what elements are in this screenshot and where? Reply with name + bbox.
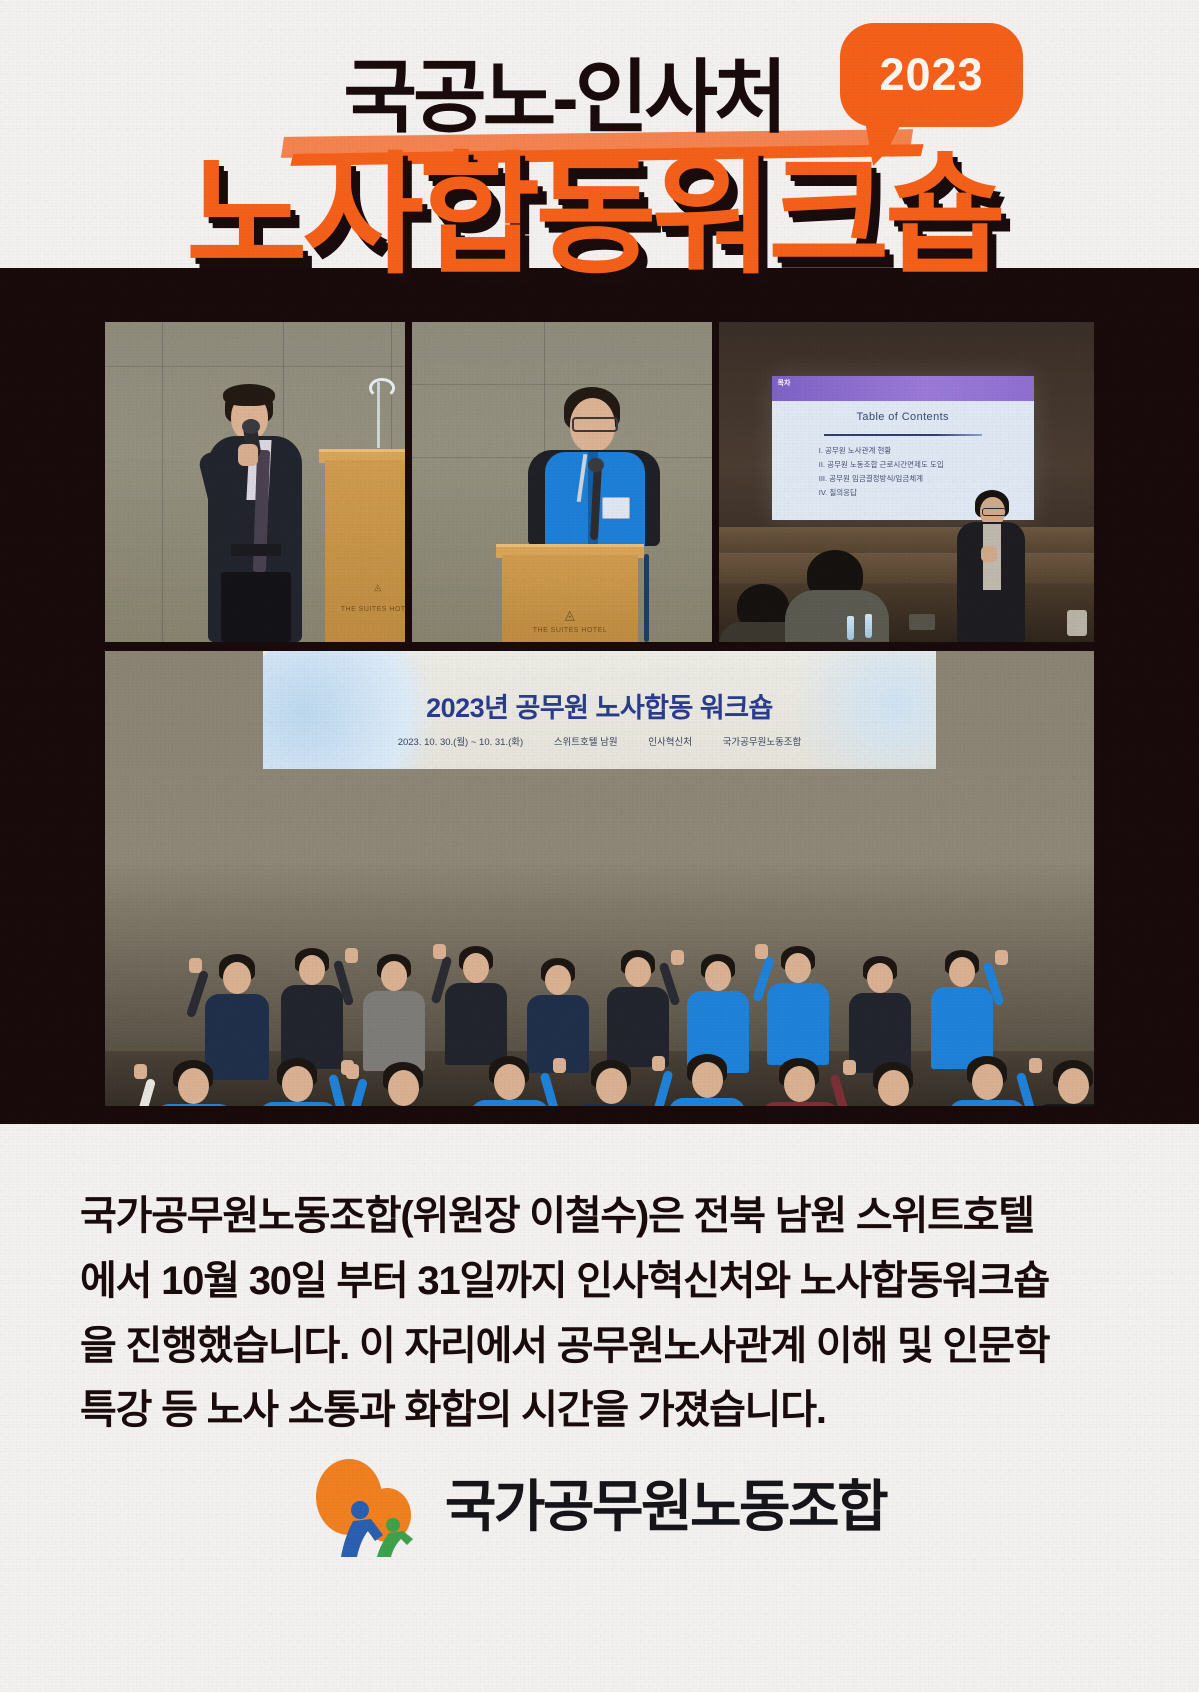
poster-root: 국공노-인사처 2023 노사합동워크숍 ◬ THE SUITES HOTEL — [0, 0, 1199, 1692]
speaker-belt — [231, 544, 281, 556]
audience-body — [785, 590, 889, 642]
mic-cable — [644, 554, 649, 642]
body-line: 을 진행했습니다. 이 자리에서 공무원노사관계 이해 및 인문학 — [80, 1314, 1120, 1379]
person-fist — [345, 948, 358, 963]
person-torso — [205, 994, 269, 1080]
person-head — [692, 1062, 723, 1098]
person-head — [545, 965, 571, 995]
slide-tab-label: 목차 — [778, 378, 791, 388]
photo-speaker-suit: ◬ THE SUITES HOTEL — [105, 322, 405, 642]
slide-toc-item: II. 공무원 노동조합 근로시간면제도 도입 — [819, 458, 1019, 472]
mic-clip-icon — [369, 378, 395, 398]
person-fist — [995, 950, 1008, 965]
person-head — [388, 1070, 419, 1106]
microphone-head-icon — [588, 458, 604, 472]
person-torso — [607, 987, 669, 1067]
person-vest — [1035, 1104, 1094, 1106]
stage-step — [719, 553, 1094, 584]
presenter-glasses-icon — [982, 508, 1006, 516]
person-head — [625, 957, 651, 987]
person-fist — [1029, 1058, 1042, 1073]
person-torso — [445, 983, 507, 1065]
podium-hotel-emblem: ◬ — [325, 582, 405, 593]
banner-org-2: 국가공무원노동조합 — [723, 737, 802, 748]
podium-hotel-name: THE SUITES HOTEL — [502, 627, 638, 634]
person-head — [299, 955, 325, 985]
slide-toc-item: I. 공무원 노사관계 현황 — [819, 444, 1019, 458]
body-line: 국가공무원노동조합(위원장 이철수)은 전북 남원 스위트호텔 — [80, 1184, 1120, 1249]
person-head — [785, 953, 811, 983]
poster-header: 국공노-인사처 2023 — [0, 0, 1199, 268]
photo-lecture-slide: 목차 Table of Contents I. 공무원 노사관계 현황 II. … — [719, 322, 1094, 642]
wall-seam — [412, 384, 712, 385]
desk-object — [909, 614, 935, 630]
slide-header-band: 목차 — [772, 376, 1035, 400]
person-head — [596, 1068, 627, 1104]
person-fist — [134, 1064, 147, 1079]
person-torso — [849, 993, 911, 1073]
podium-hotel-name: THE SUITES HOTEL — [325, 606, 405, 613]
person-head — [705, 961, 731, 991]
speaker2-badge — [602, 497, 630, 519]
banner-date: 2023. 10. 30.(월) ~ 10. 31.(화) — [398, 737, 523, 748]
water-bottle — [847, 616, 854, 640]
person-fist — [843, 1060, 856, 1075]
desk-object — [1067, 610, 1087, 636]
event-banner: 2023년 공무원 노사합동 워크숍 2023. 10. 30.(월) ~ 10… — [263, 651, 936, 769]
person-head — [494, 1064, 525, 1100]
wall-seam — [162, 322, 163, 642]
microphone-head-icon — [242, 419, 260, 434]
year-badge-label: 2023 — [840, 23, 1023, 127]
slide-title-rule — [824, 434, 982, 436]
person-vest — [669, 1098, 745, 1106]
year-speech-bubble: 2023 — [840, 23, 1023, 127]
person-head — [784, 1066, 815, 1102]
slide-toc-item: III. 공무원 임금결정방식/임금체계 — [819, 472, 1019, 486]
person-head — [178, 1068, 209, 1104]
footer-logo-row: 국가공무원노동조합 — [0, 1430, 1199, 1580]
banner-venue: 스위트호텔 남원 — [554, 737, 618, 748]
presenter-hand — [981, 546, 997, 562]
wall-seam — [105, 366, 405, 367]
person-head — [223, 962, 251, 994]
person-fist — [346, 1064, 359, 1079]
person-head — [972, 1064, 1003, 1100]
podium-body: ◬ THE SUITES HOTEL — [502, 555, 638, 642]
poster-bottom: 국가공무원노동조합(위원장 이철수)은 전북 남원 스위트호텔 에서 10월 3… — [0, 1124, 1199, 1692]
person-torso — [363, 991, 425, 1071]
person-fist — [189, 958, 202, 973]
speaker-trousers — [221, 572, 291, 642]
person-head — [878, 1070, 909, 1106]
footer-org-name: 국가공무원노동조합 — [445, 1479, 886, 1535]
stage-step — [719, 527, 1094, 554]
poster-title-line1: 국공노-인사처 — [337, 58, 789, 138]
person-vest — [155, 1104, 233, 1106]
banner-title: 2023년 공무원 노사합동 워크숍 — [263, 686, 936, 725]
person-fist — [652, 1056, 665, 1071]
water-bottle — [865, 614, 872, 638]
person-fist — [553, 1058, 566, 1073]
person-head — [949, 957, 975, 987]
speaker2-glasses-icon — [572, 417, 618, 432]
person-torso — [281, 985, 343, 1069]
person-vest — [949, 1100, 1025, 1106]
person-head — [282, 1066, 313, 1102]
person-fist — [755, 944, 768, 959]
person-fist — [433, 944, 446, 959]
person-vest — [259, 1102, 337, 1106]
person-head — [1058, 1068, 1089, 1104]
person-fist — [671, 950, 684, 965]
person-vest — [471, 1100, 549, 1106]
union-heart-people-logo — [313, 1453, 419, 1557]
photo-speaker-bluevest: ◬ THE SUITES HOTEL — [412, 322, 712, 642]
slide-title: Table of Contents — [772, 411, 1035, 423]
podium-hotel-emblem: ◬ — [502, 607, 638, 623]
body-paragraph: 국가공무원노동조합(위원장 이철수)은 전북 남원 스위트호텔 에서 10월 3… — [80, 1184, 1120, 1443]
photo-group: 2023년 공무원 노사합동 워크숍 2023. 10. 30.(월) ~ 10… — [105, 651, 1094, 1106]
banner-org-1: 인사혁신처 — [648, 737, 692, 748]
person-head — [381, 961, 407, 991]
podium-body: ◬ THE SUITES HOTEL — [325, 460, 405, 642]
person-vest — [573, 1104, 651, 1106]
body-line: 에서 10월 30일 부터 31일까지 인사혁신처와 노사합동워크숍 — [80, 1249, 1120, 1314]
speaker-hair-top — [223, 384, 275, 406]
banner-subline: 2023. 10. 30.(월) ~ 10. 31.(화) 스위트호텔 남원 인… — [263, 734, 936, 748]
person-vest — [761, 1102, 839, 1106]
person-torso — [767, 983, 829, 1065]
person-head — [867, 963, 893, 993]
person-head — [463, 953, 489, 983]
speaker-hand — [238, 444, 258, 466]
